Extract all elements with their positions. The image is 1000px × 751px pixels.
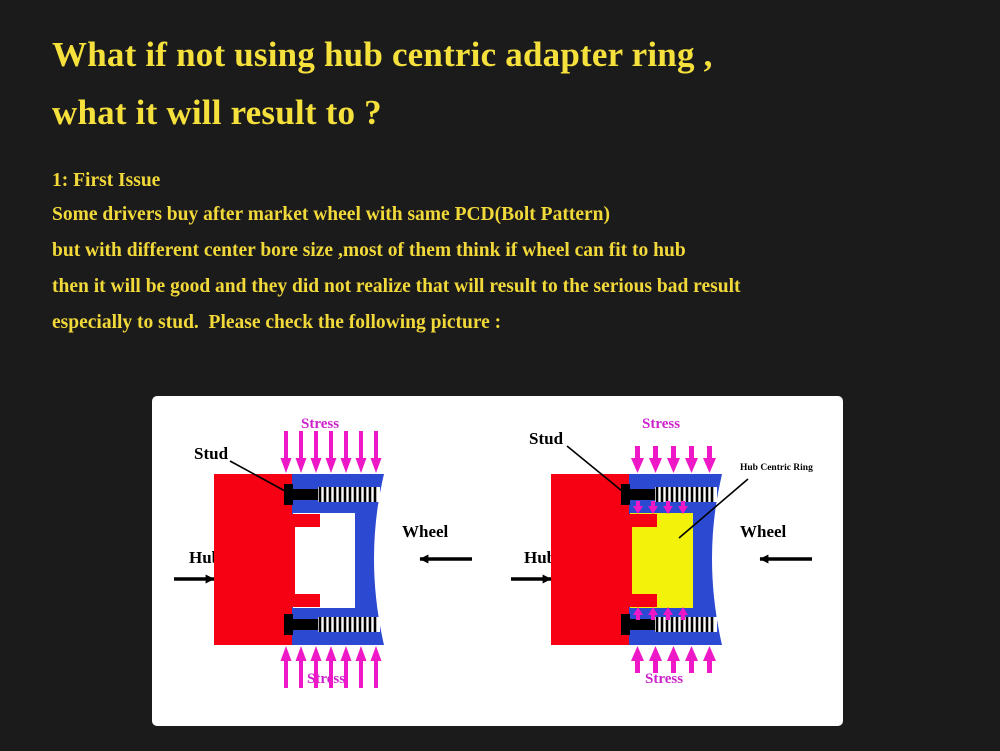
figure-panel: Stress Stress Stud Hub Wheel <box>152 396 843 726</box>
center-bore-gap <box>293 513 355 608</box>
page-title: What if not using hub centric adapter ri… <box>52 26 932 142</box>
page-title-line-2: what it will result to ? <box>52 84 932 142</box>
body-line-3: then it will be good and they did not re… <box>52 269 952 305</box>
hub-centric-ring <box>630 513 693 608</box>
diagram-without-ring: Stress Stress Stud Hub Wheel <box>152 396 497 726</box>
page-title-line-1: What if not using hub centric adapter ri… <box>52 26 932 84</box>
slide-canvas: What if not using hub centric adapter ri… <box>0 0 1000 751</box>
diagram-with-ring-art <box>494 396 839 726</box>
stress-arrows-bottom <box>281 646 382 688</box>
diagram-with-ring: Stress Stress Stud Hub Wheel Hub Centric… <box>494 396 839 726</box>
stress-arrows-bottom <box>631 646 716 673</box>
body-copy: 1: First Issue Some drivers buy after ma… <box>52 164 952 341</box>
body-line-1: Some drivers buy after market wheel with… <box>52 197 952 233</box>
stress-arrows-top <box>281 431 382 473</box>
diagram-without-ring-art <box>152 396 497 726</box>
body-line-2: but with different center bore size ,mos… <box>52 233 952 269</box>
body-line-issue-heading: 1: First Issue <box>52 164 952 197</box>
body-line-4: especially to stud. Please check the fol… <box>52 305 952 341</box>
stress-arrows-top <box>631 446 716 473</box>
